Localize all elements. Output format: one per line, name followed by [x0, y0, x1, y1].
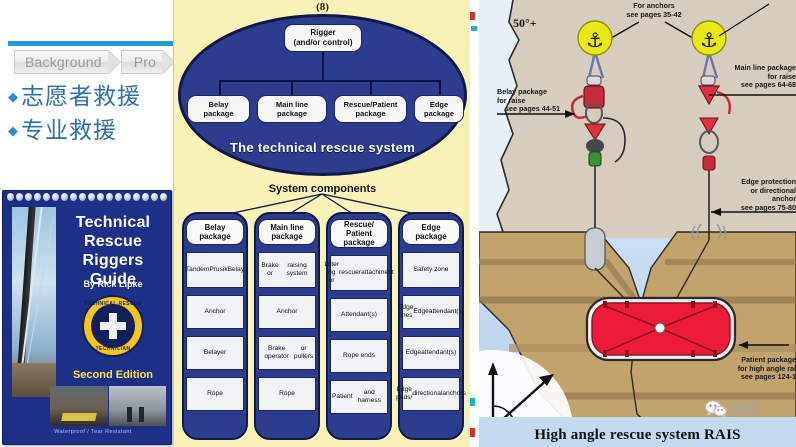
label-line: see pages 124-1 [715, 373, 796, 382]
connector-line [219, 80, 221, 95]
component-item: Anchor [186, 295, 244, 329]
connector-line [291, 80, 293, 95]
component-item: Attendant(s) [330, 298, 388, 332]
node-line2: package [203, 109, 233, 118]
diamond-bullet-icon: ◆ [8, 116, 18, 146]
badge-bottom-text: TECHNICIAN [84, 346, 142, 352]
column-header-line1: Main line [270, 223, 303, 232]
book-title-line1: Technical [60, 213, 166, 232]
node-line1: Belay [203, 100, 233, 109]
rescue-technician-badge-icon: TECHNICAL RESCUE TECHNICIAN [82, 295, 144, 357]
figure-panel: (8) Rigger (and/or control) Belay packag… [173, 0, 472, 447]
node-line1: Rescue/Patient [344, 100, 398, 109]
connector-line [322, 52, 324, 80]
column-header-line2: package [270, 232, 303, 241]
column-header: Main line package [258, 219, 316, 245]
component-item: Patientand harness [330, 380, 388, 414]
spiral-binding-icon [3, 191, 171, 202]
breadcrumb: Background Pro [14, 50, 162, 74]
node-line1: Edge [424, 100, 454, 109]
column-header: Belay package [186, 219, 244, 245]
connector-line [219, 80, 440, 82]
bullet-list: ◆ 志愿者救援 ◆ 专业救援 [8, 82, 173, 150]
diamond-bullet-icon: ◆ [8, 82, 18, 112]
book-author: By Rick Lipke [60, 279, 166, 289]
figure-number: (8) [174, 1, 471, 13]
column-header-line2: package [415, 232, 446, 241]
svg-text:⚓: ⚓ [700, 28, 718, 52]
accent-rule [8, 41, 173, 46]
component-item: Rope [186, 377, 244, 411]
column-header-line1: Edge [415, 223, 446, 232]
node-line2: package [424, 109, 454, 118]
watermark-text: 经燕 [730, 399, 758, 419]
cyan-tab-marker [470, 398, 475, 406]
label-edge-protection: Edge protection or directional anchor se… [701, 178, 796, 212]
rescue-illustration-panel: ⚓ ⚓ [479, 0, 796, 447]
component-column-belay: Belay package TandemPrusikBelay Anchor B… [182, 212, 248, 440]
component-column-main-line: Main line package Brake orraising system… [254, 212, 320, 440]
component-item: Edgeattendant(s) [402, 336, 460, 370]
bullet-text: 专业救援 [21, 116, 117, 146]
badge-top-text: TECHNICAL RESCUE [84, 301, 142, 307]
label-line: see pages 75-80 [701, 204, 796, 213]
label-line: see pages 44-51 [497, 105, 582, 114]
book-edition: Second Edition [60, 369, 166, 381]
component-item: Edge linesEdgeattendant(s) [402, 295, 460, 329]
connector-line [370, 80, 372, 95]
book-title-line2: Rescue [60, 232, 166, 251]
red-tab-marker [470, 12, 475, 20]
bullet-text: 志愿者救援 [21, 82, 141, 112]
breadcrumb-label: Background [25, 54, 102, 70]
component-item: TandemPrusikBelay [186, 252, 244, 288]
component-item: Safety zone [402, 252, 460, 288]
illustration-caption: High angle rescue system RAIS [479, 427, 796, 444]
node-belay-package: Belay package [187, 95, 250, 123]
node-line1: Main line [276, 100, 308, 109]
column-header: Edge package [402, 219, 460, 245]
watermark: 经燕 [705, 399, 758, 419]
node-line2: package [344, 109, 398, 118]
svg-text:⚓: ⚓ [586, 28, 604, 52]
node-rigger: Rigger (and/or control) [284, 24, 362, 52]
label-line: see pages 35-42 [609, 11, 699, 20]
node-line2: (and/or control) [293, 38, 352, 48]
column-header-line2: package [199, 232, 230, 241]
component-column-edge: Edge package Safety zone Edge linesEdgea… [398, 212, 464, 440]
wechat-icon [705, 400, 727, 418]
component-item: Belayer [186, 336, 244, 370]
component-item: Brake orraising system [258, 252, 316, 288]
breadcrumb-label: Pro [134, 54, 156, 70]
page-gutter [470, 0, 479, 447]
node-rescue-patient-package: Rescue/Patient package [334, 95, 407, 123]
label-line: see pages 64-68 [701, 81, 796, 90]
component-item: Litter rig orrescuerattachment [330, 255, 388, 291]
column-header-line1: Rescue/ [331, 220, 387, 229]
component-item: Rope ends [330, 339, 388, 373]
column-header-line2: Patient package [331, 229, 387, 247]
list-item: ◆ 志愿者救援 [8, 82, 173, 112]
node-edge-package: Edge package [414, 95, 464, 123]
node-main-line-package: Main line package [257, 95, 327, 123]
system-components-columns: Belay package TandemPrusikBelay Anchor B… [182, 212, 464, 440]
red-tab-marker [470, 428, 475, 437]
node-line1: Rigger [293, 28, 352, 38]
cyan-tab-marker [471, 26, 477, 31]
label-patient-package: Patient package for high angle rai see p… [715, 356, 796, 382]
component-item: Edge pads/directionalanchors [402, 377, 460, 411]
label-belay-package: Belay package for raise see pages 44-51 [497, 88, 582, 114]
label-anchors: For anchors see pages 35-42 [609, 2, 699, 19]
book-footer-text: Waterproof / Tear Resistant [33, 429, 153, 435]
component-column-rescue-patient: Rescue/ Patient package Litter rig orres… [326, 212, 392, 440]
breadcrumb-item-pro[interactable]: Pro [121, 50, 162, 74]
figure-caption: The technical rescue system [174, 140, 471, 155]
node-line2: package [276, 109, 308, 118]
label-main-line-package: Main line package for raise see pages 64… [701, 64, 796, 90]
component-item: Brake operatoror pullers [258, 336, 316, 370]
list-item: ◆ 专业救援 [8, 116, 173, 146]
cover-bottom-photos [50, 386, 166, 426]
slide-panel: Background Pro ◆ 志愿者救援 ◆ 专业救援 [0, 0, 173, 447]
screenshot-root: Background Pro ◆ 志愿者救援 ◆ 专业救援 [0, 0, 796, 447]
column-header: Rescue/ Patient package [330, 219, 388, 248]
cover-side-photo [12, 207, 56, 397]
connector-line [439, 80, 441, 95]
component-item: Rope [258, 377, 316, 411]
book-title: Technical Rescue Riggers Guide [60, 213, 166, 289]
angle-label: 50°+ [513, 16, 537, 31]
column-header-line1: Belay [199, 223, 230, 232]
component-item: Anchor [258, 295, 316, 329]
breadcrumb-item-background[interactable]: Background [14, 50, 108, 74]
book-cover-image: Technical Rescue Riggers Guide By Rick L… [2, 190, 172, 445]
